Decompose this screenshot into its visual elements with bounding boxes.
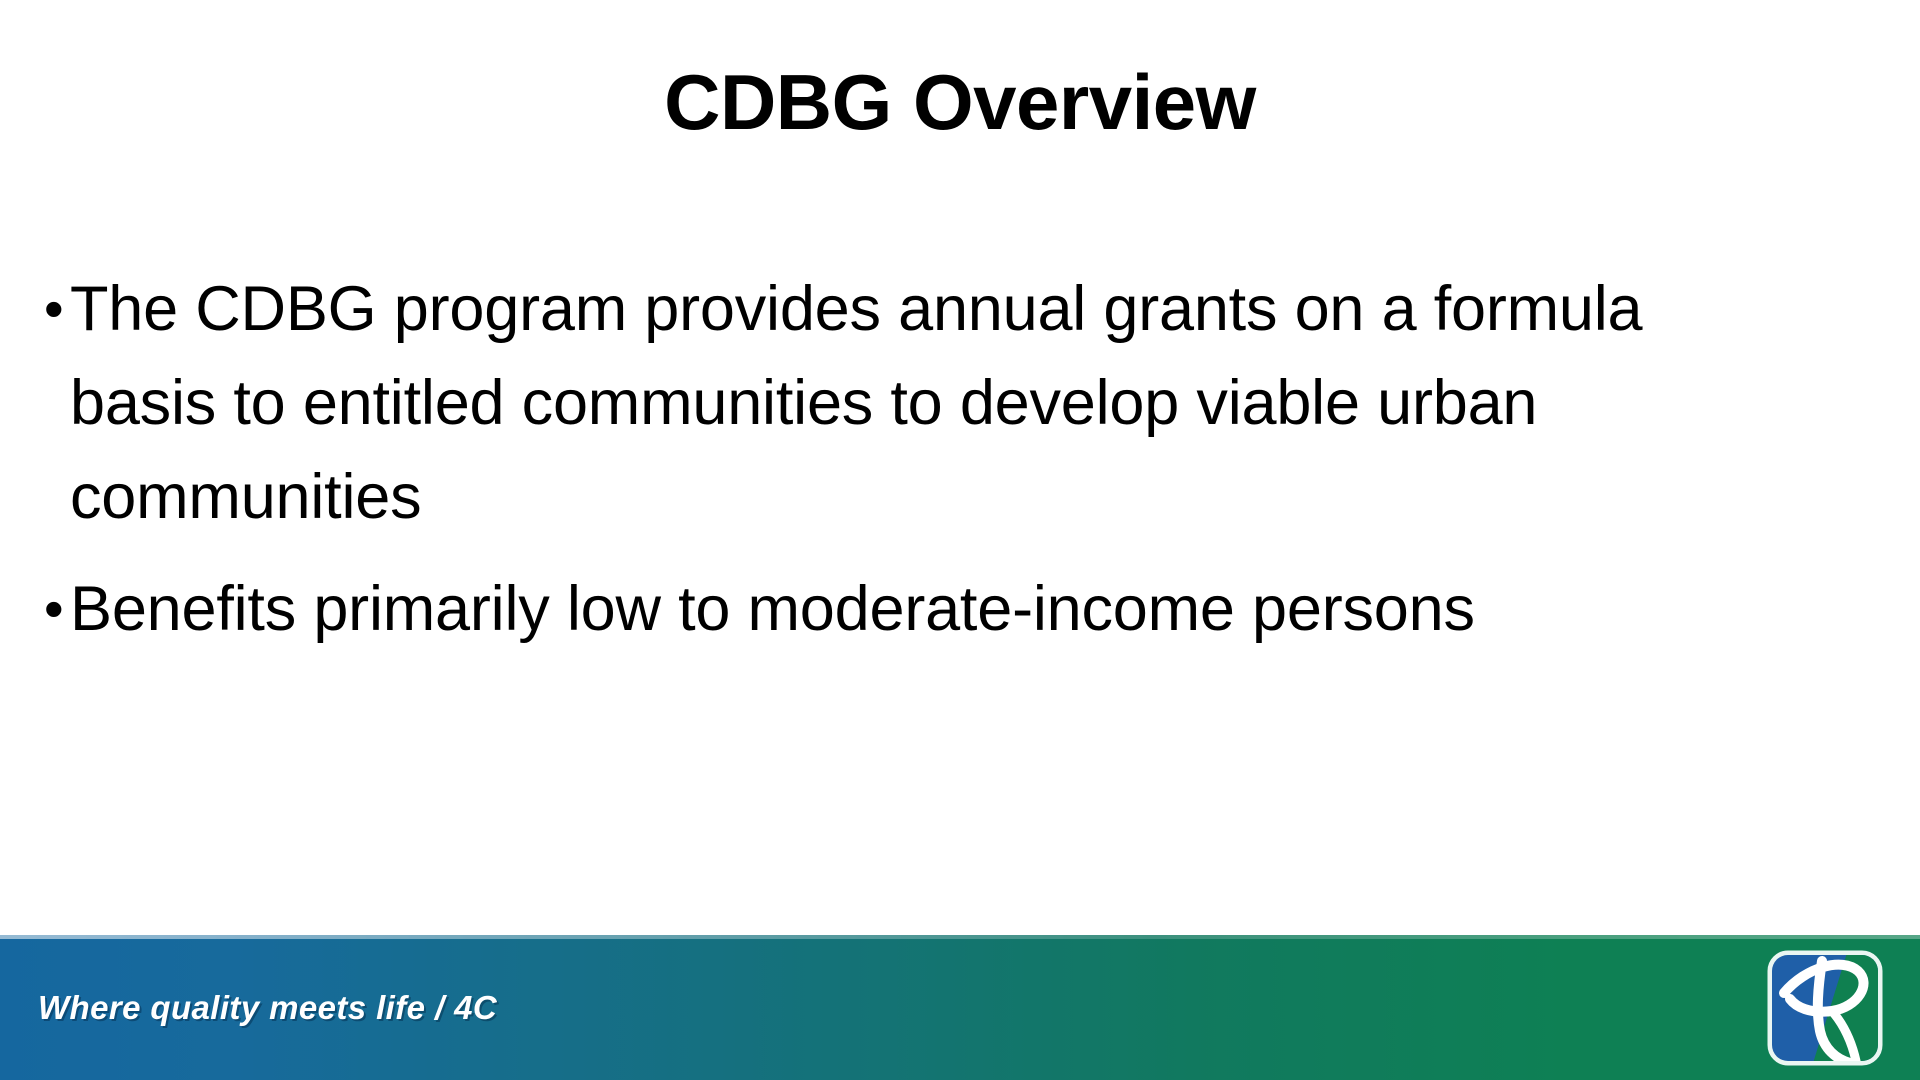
footer-tagline: Where quality meets life / 4C [38,989,497,1027]
footer-top-highlight [0,935,1920,939]
bullet-text: The CDBG program provides annual grants … [70,262,1770,544]
bullet-point-icon: • [40,562,70,656]
bullet-list-item: • Benefits primarily low to moderate-inc… [40,562,1850,656]
bullet-list-item: • The CDBG program provides annual grant… [40,262,1850,544]
presentation-slide: CDBG Overview • The CDBG program provide… [0,0,1920,1080]
4c-logo-icon [1766,949,1884,1067]
bullet-point-icon: • [40,262,70,356]
slide-title: CDBG Overview [0,62,1920,144]
slide-body: • The CDBG program provides annual grant… [40,262,1850,674]
bullet-text: Benefits primarily low to moderate-incom… [70,562,1770,656]
footer-banner: Where quality meets life / 4C [0,935,1920,1080]
